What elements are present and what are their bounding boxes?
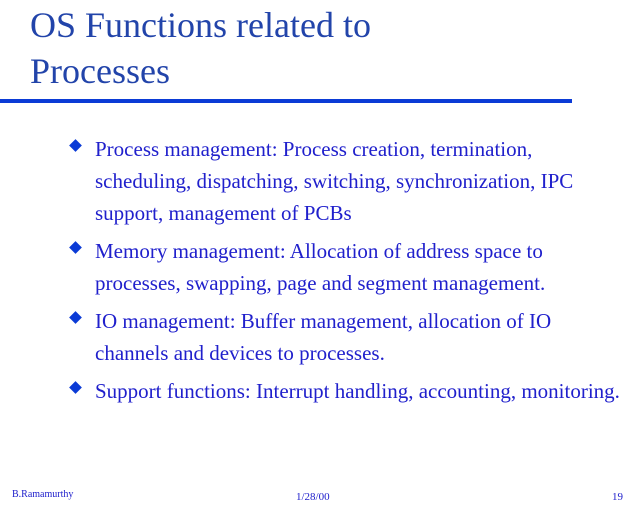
bullet-list: Process management: Process creation, te… <box>68 133 628 407</box>
page-title: OS Functions related to Processes <box>30 2 590 94</box>
page-title-line-2: Processes <box>30 48 590 94</box>
footer-author: B.Ramamurthy <box>12 489 73 501</box>
diamond-bullet-icon <box>68 311 82 325</box>
page-title-line-1: OS Functions related to <box>30 2 590 48</box>
diamond-bullet-icon <box>68 241 82 255</box>
presentation-slide: OS Functions related to Processes Proces… <box>0 0 640 512</box>
list-item-text: Support functions: Interrupt handling, a… <box>95 375 628 407</box>
slide-footer: B.Ramamurthy 1/28/00 19 <box>0 485 640 512</box>
footer-date: 1/28/00 <box>296 491 330 504</box>
list-item-text: Memory management: Allocation of address… <box>95 235 628 299</box>
title-underline-rule <box>0 99 572 103</box>
list-item-text: Process management: Process creation, te… <box>95 133 628 229</box>
diamond-bullet-icon <box>68 139 82 153</box>
list-item: IO management: Buffer management, alloca… <box>68 305 628 369</box>
diamond-bullet-icon <box>68 381 82 395</box>
list-item: Support functions: Interrupt handling, a… <box>68 375 628 407</box>
list-item: Process management: Process creation, te… <box>68 133 628 229</box>
footer-slide-number: 19 <box>612 491 623 504</box>
list-item: Memory management: Allocation of address… <box>68 235 628 299</box>
list-item-text: IO management: Buffer management, alloca… <box>95 305 628 369</box>
